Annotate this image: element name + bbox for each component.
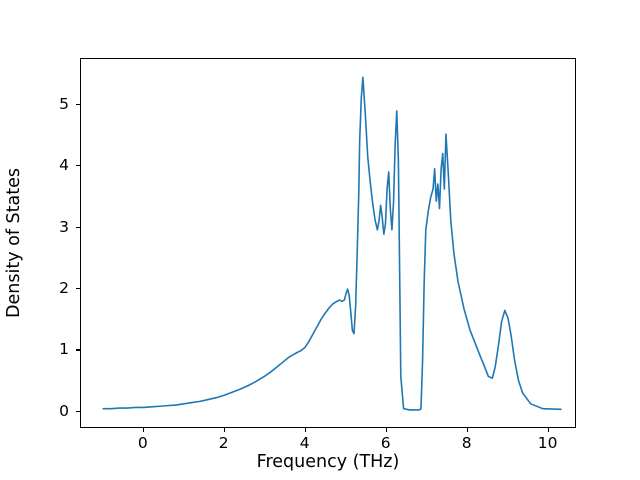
y-tick-label: 4 [59, 156, 69, 174]
y-axis-label: Density of States [0, 58, 28, 428]
x-tick-mark [143, 428, 144, 432]
y-tick-mark [76, 227, 80, 228]
x-tick-label: 2 [219, 434, 229, 452]
x-tick-mark [467, 428, 468, 432]
y-tick-label: 1 [59, 340, 69, 358]
x-tick-mark [305, 428, 306, 432]
y-tick-label: 5 [59, 95, 69, 113]
x-axis-label: Frequency (THz) [80, 452, 576, 472]
plot-area [80, 58, 576, 428]
x-tick-label: 10 [538, 434, 558, 452]
y-tick-label: 2 [59, 279, 69, 297]
x-tick-label: 0 [138, 434, 148, 452]
x-tick-mark [386, 428, 387, 432]
x-tick-mark [548, 428, 549, 432]
y-tick-mark [76, 165, 80, 166]
y-axis-label-text: Density of States [4, 168, 24, 318]
y-tick-mark [76, 349, 80, 350]
dos-curve [81, 59, 575, 427]
y-tick-mark [76, 411, 80, 412]
x-tick-label: 6 [381, 434, 391, 452]
x-tick-label: 4 [300, 434, 310, 452]
y-tick-mark [76, 288, 80, 289]
x-tick-label: 8 [462, 434, 472, 452]
figure-canvas: 0246810 012345 Frequency (THz) Density o… [0, 0, 640, 480]
x-tick-mark [224, 428, 225, 432]
y-tick-label: 0 [59, 402, 69, 420]
y-tick-label: 3 [59, 218, 69, 236]
y-tick-mark [76, 104, 80, 105]
